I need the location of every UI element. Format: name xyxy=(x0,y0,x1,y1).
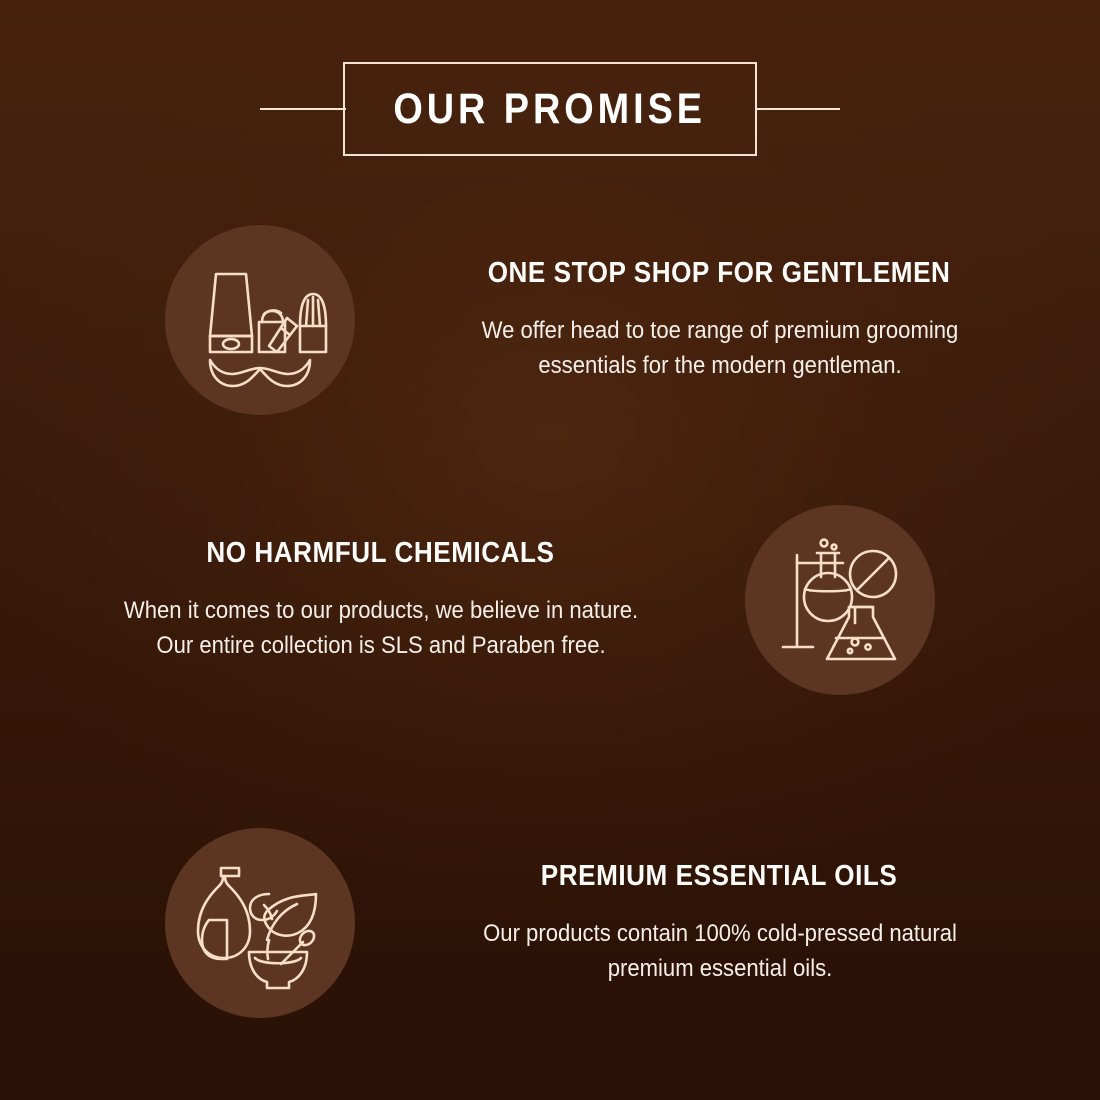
our-promise-panel: OUR PROMISE xyxy=(0,0,1100,1100)
feature-title: ONE STOP SHOP FOR GENTLEMEN xyxy=(488,257,951,290)
icon-circle xyxy=(745,505,935,695)
feature-description: We offer head to toe range of premium gr… xyxy=(462,313,977,383)
oil-bottle-mortar-pestle-leaf-icon xyxy=(185,848,335,998)
feature-item-premium-essential-oils: PREMIUM ESSENTIAL OILS Our products cont… xyxy=(0,808,1100,1038)
feature-icon-wrap xyxy=(110,225,410,415)
feature-item-no-harmful-chemicals: NO HARMFUL CHEMICALS When it comes to ou… xyxy=(0,485,1100,715)
feature-title: PREMIUM ESSENTIAL OILS xyxy=(541,860,898,893)
grooming-kit-mustache-icon xyxy=(180,240,340,400)
feature-item-one-stop-shop: ONE STOP SHOP FOR GENTLEMEN We offer hea… xyxy=(0,205,1100,435)
feature-text-block: PREMIUM ESSENTIAL OILS Our products cont… xyxy=(410,860,1100,985)
feature-icon-wrap xyxy=(690,505,990,695)
feature-title: NO HARMFUL CHEMICALS xyxy=(206,537,554,570)
no-chemicals-lab-flask-icon xyxy=(765,525,915,675)
section-header: OUR PROMISE xyxy=(0,62,1100,156)
feature-text-block: NO HARMFUL CHEMICALS When it comes to ou… xyxy=(0,537,690,662)
icon-circle xyxy=(165,828,355,1018)
header-rule-right xyxy=(755,108,840,110)
header-rule-left xyxy=(260,108,346,110)
feature-description: Our products contain 100% cold-pressed n… xyxy=(462,916,977,986)
feature-description: When it comes to our products, we believ… xyxy=(123,593,638,663)
page-title: OUR PROMISE xyxy=(394,88,707,131)
header-title-box: OUR PROMISE xyxy=(343,62,757,156)
feature-text-block: ONE STOP SHOP FOR GENTLEMEN We offer hea… xyxy=(410,257,1100,382)
icon-circle xyxy=(165,225,355,415)
feature-icon-wrap xyxy=(110,828,410,1018)
